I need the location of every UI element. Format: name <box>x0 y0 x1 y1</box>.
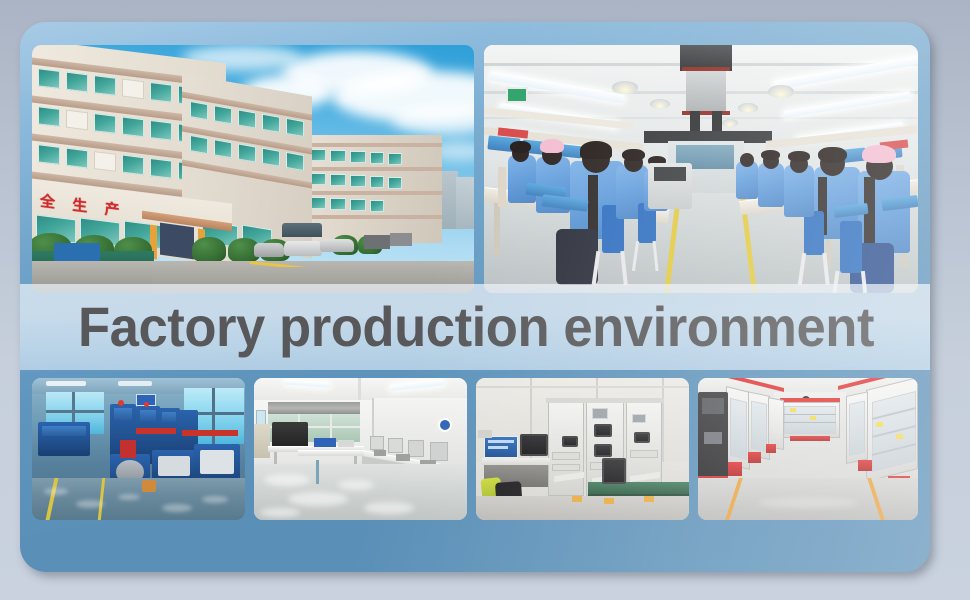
photo-machine-workshop[interactable] <box>32 378 245 520</box>
photo-aging-cabinet-room[interactable] <box>698 378 918 520</box>
title-overlay-band: Factory production environment <box>20 284 930 370</box>
photo-assembly-line[interactable] <box>484 45 918 293</box>
factory-banner-card: 全 生 产 <box>20 22 930 572</box>
page-title: Factory production environment <box>78 299 874 355</box>
photo-test-equipment-room[interactable] <box>476 378 689 520</box>
photo-factory-building-exterior[interactable]: 全 生 产 <box>32 45 474 293</box>
photo-measuring-laboratory[interactable] <box>254 378 467 520</box>
